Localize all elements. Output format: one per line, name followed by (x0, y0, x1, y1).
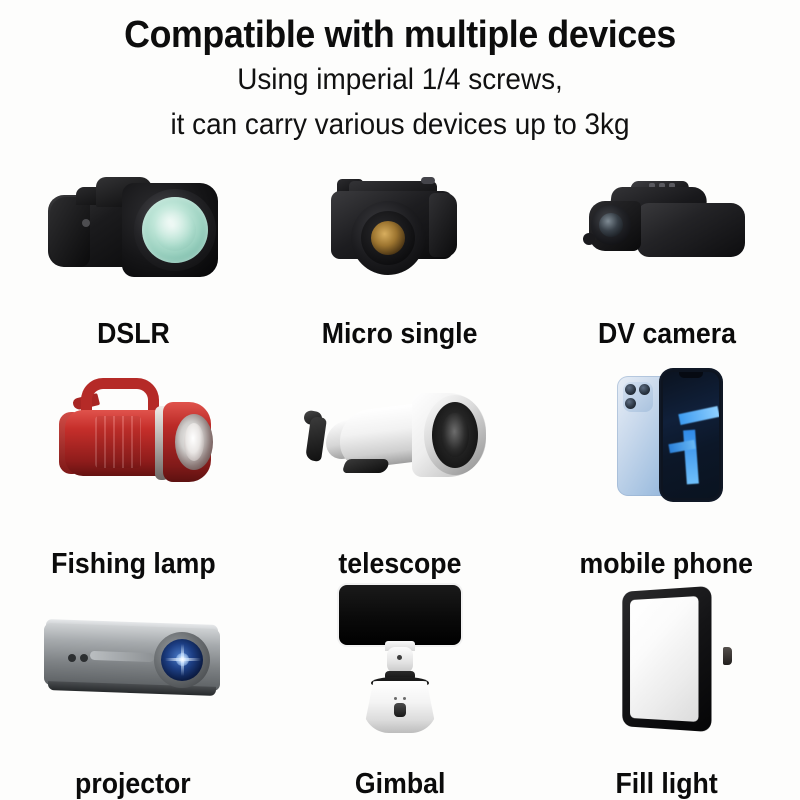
device-label-mobile-phone: mobile phone (580, 548, 753, 580)
projector-icon (0, 580, 267, 740)
device-label-telescope: telescope (338, 548, 461, 580)
header: Compatible with multiple devices Using i… (0, 0, 800, 148)
device-cell-mobile-phone: mobile phone (533, 365, 800, 580)
device-cell-projector: projector (0, 580, 267, 800)
mirrorless-camera-icon (267, 160, 534, 290)
led-panel-light-icon (533, 580, 800, 740)
device-cell-fill-light: Fill light (533, 580, 800, 800)
gimbal-icon (267, 580, 534, 740)
device-cell-fishing-lamp: Fishing lamp (0, 365, 267, 580)
device-grid: DSLR Micro single (0, 160, 800, 800)
device-label-projector: projector (76, 768, 192, 800)
device-label-dslr: DSLR (97, 318, 170, 350)
page-title: Compatible with multiple devices (24, 12, 776, 58)
smartphone-icon (533, 365, 800, 506)
device-label-micro-single: Micro single (322, 318, 478, 350)
device-label-fill-light: Fill light (616, 768, 718, 800)
flashlight-icon (0, 365, 267, 506)
telescope-icon (267, 365, 534, 506)
subtitle-line-1: Using imperial 1/4 screws, (28, 58, 772, 102)
device-label-gimbal: Gimbal (355, 768, 445, 800)
device-cell-dslr: DSLR (0, 160, 267, 365)
device-cell-micro-single: Micro single (267, 160, 534, 365)
device-label-dv-camera: DV camera (598, 318, 736, 350)
infographic-page: Compatible with multiple devices Using i… (0, 0, 800, 800)
dslr-camera-icon (0, 160, 267, 290)
device-label-fishing-lamp: Fishing lamp (51, 548, 216, 580)
camcorder-icon (533, 160, 800, 290)
device-cell-gimbal: Gimbal (267, 580, 534, 800)
device-cell-dv-camera: DV camera (533, 160, 800, 365)
subtitle-line-2: it can carry various devices up to 3kg (28, 102, 772, 148)
device-cell-telescope: telescope (267, 365, 534, 580)
